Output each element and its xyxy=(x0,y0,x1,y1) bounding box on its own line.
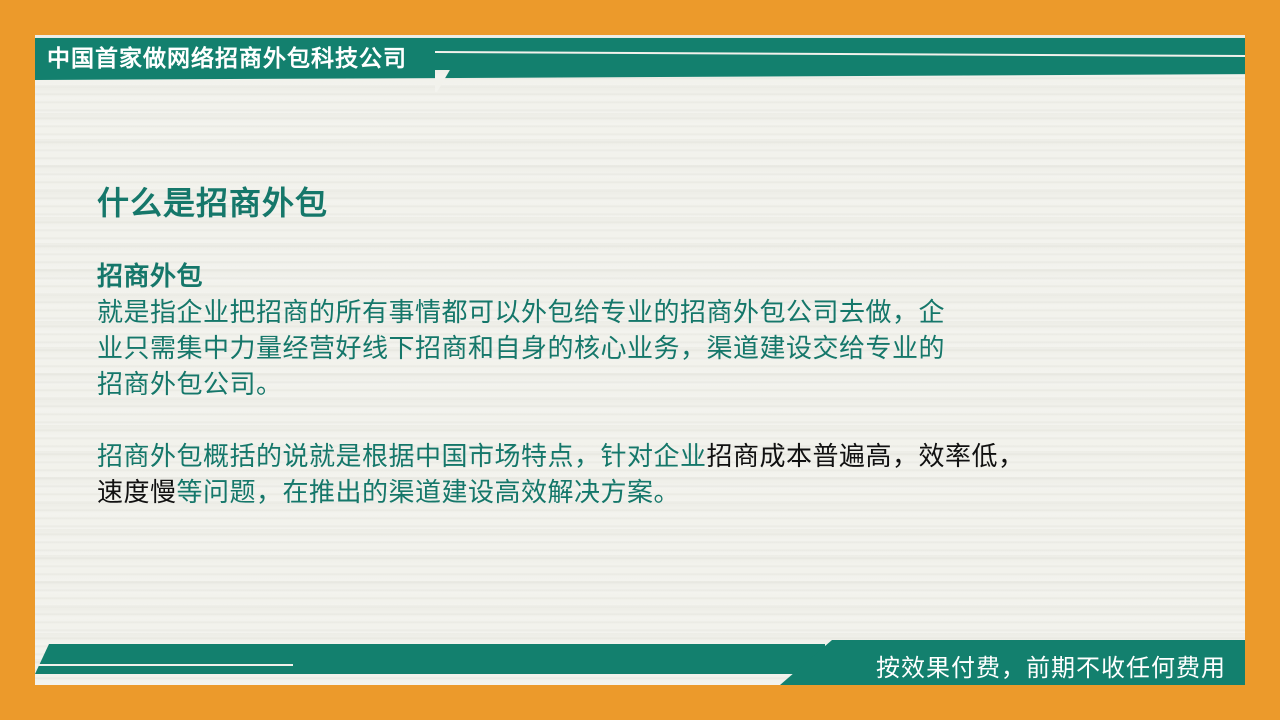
footer-banner-left-bar xyxy=(35,644,825,674)
header-banner-text: 中国首家做网络招商外包科技公司 xyxy=(47,41,407,75)
paragraph-summary: 招商外包概括的说就是根据中国市场特点，针对企业招商成本普遍高，效率低， 速度慢等… xyxy=(97,438,1217,510)
summary-text-highlight: 招商成本普遍高，效率低， xyxy=(707,441,1025,471)
body-content: 招商外包 就是指企业把招商的所有事情都可以外包给专业的招商外包公司去做，企 业只… xyxy=(97,258,1217,510)
slide-canvas: 中国首家做网络招商外包科技公司 什么是招商外包 招商外包 就是指企业把招商的所有… xyxy=(0,0,1280,720)
paragraph-line: 业只需集中力量经营好线下招商和自身的核心业务，渠道建设交给专业的 xyxy=(97,330,1217,366)
lead-term: 招商外包 xyxy=(97,258,1217,294)
paragraph-definition: 就是指企业把招商的所有事情都可以外包给专业的招商外包公司去做，企 业只需集中力量… xyxy=(97,294,1217,402)
footer-tagline: 按效果付费，前期不收任何费用 xyxy=(876,648,1226,683)
page-title: 什么是招商外包 xyxy=(97,178,328,224)
summary-text-green: 等问题，在推出的渠道建设高效解决方案。 xyxy=(177,477,681,507)
paragraph-line: 招商外包概括的说就是根据中国市场特点，针对企业招商成本普遍高，效率低， xyxy=(97,438,1217,474)
summary-text-green: 招商外包概括的说就是根据中国市场特点，针对企业 xyxy=(97,441,707,471)
paragraph-line: 招商外包公司。 xyxy=(97,366,1217,402)
summary-text-highlight: 速度慢 xyxy=(97,477,177,507)
footer-banner-hairline xyxy=(35,664,293,666)
paragraph-spacer xyxy=(97,402,1217,438)
paragraph-line: 速度慢等问题，在推出的渠道建设高效解决方案。 xyxy=(97,474,1217,510)
paragraph-line: 就是指企业把招商的所有事情都可以外包给专业的招商外包公司去做，企 xyxy=(97,294,1217,330)
